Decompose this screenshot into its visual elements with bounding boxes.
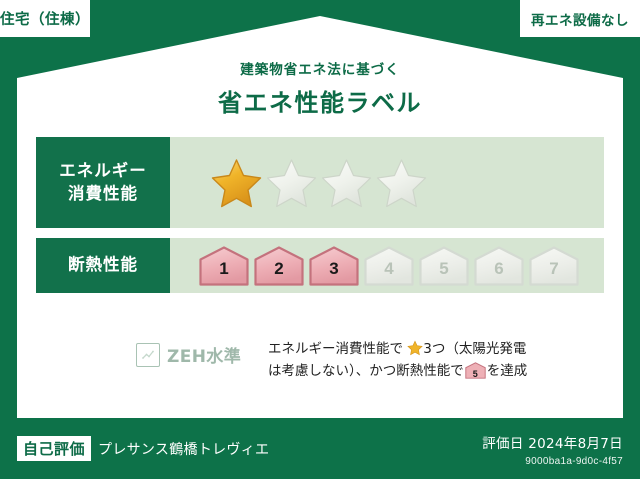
zeh-desc-text-1: エネルギー消費性能で — [268, 341, 403, 357]
zeh-mark-label: ZEH水準 — [167, 342, 241, 367]
zeh-desc-text-3: は考慮しない）、かつ断熱性能で — [268, 363, 464, 379]
evaluation-id: 9000ba1a-9d0c-4f57 — [482, 456, 623, 467]
star-icon-empty — [320, 157, 373, 209]
renewable-energy-tag: 再エネ設備なし — [520, 0, 640, 37]
energy-label-line-2: 消費性能 — [68, 183, 138, 205]
house-icon-empty: 6 — [473, 245, 525, 287]
insulation-grade-scale: 1234567 — [198, 245, 580, 287]
house-icon-achieved: 2 — [253, 245, 305, 287]
house-icon-empty: 7 — [528, 245, 580, 287]
insulation-grade-number: 7 — [528, 259, 580, 279]
property-name: プレサンス鶴橋トレヴィエ — [98, 439, 269, 459]
star-icon-empty — [265, 157, 318, 209]
star-icon-filled — [210, 157, 263, 209]
insulation-performance-row: 断熱性能 1234567 — [36, 238, 604, 293]
energy-performance-label: 住宅（住棟） 再エネ設備なし 建築物省エネ法に基づく 省エネ性能ラベル エネルギ… — [0, 0, 640, 479]
building-type-tag: 住宅（住棟） — [0, 0, 90, 37]
energy-performance-label-box: エネルギー 消費性能 — [36, 137, 170, 228]
house-icon-achieved: 1 — [198, 245, 250, 287]
zeh-desc-house-grade: 5 — [465, 367, 486, 382]
insulation-grade-number: 4 — [363, 259, 415, 279]
house-icon-empty: 5 — [418, 245, 470, 287]
star-icon — [407, 340, 423, 356]
label-title: 建築物省エネ法に基づく 省エネ性能ラベル — [0, 58, 640, 118]
energy-performance-row: エネルギー 消費性能 — [36, 137, 604, 228]
zeh-mark: ZEH水準 — [36, 336, 254, 367]
zeh-description-line-1: エネルギー消費性能で 3つ（太陽光発電 — [268, 338, 604, 360]
self-evaluation: 自己評価 プレサンス鶴橋トレヴィエ — [17, 436, 269, 461]
energy-performance-value — [170, 137, 604, 228]
insulation-grade-number: 5 — [418, 259, 470, 279]
star-rating — [210, 157, 428, 209]
label-footer: 自己評価 プレサンス鶴橋トレヴィエ 評価日 2024年8月7日 9000ba1a… — [0, 424, 640, 479]
self-evaluation-badge: 自己評価 — [17, 436, 91, 461]
zeh-desc-text-2: 3つ（太陽光発電 — [423, 341, 526, 357]
label-title-sub: 建築物省エネ法に基づく — [0, 58, 640, 78]
insulation-performance-label-box: 断熱性能 — [36, 238, 170, 293]
zeh-checkbox-icon — [136, 343, 160, 367]
house-icon-empty: 4 — [363, 245, 415, 287]
insulation-performance-value: 1234567 — [170, 238, 604, 293]
evaluation-date-label: 評価日 — [482, 436, 523, 452]
zeh-description-line-2: は考慮しない）、かつ断熱性能で 5 を達成 — [268, 360, 604, 382]
star-icon-empty — [375, 157, 428, 209]
zeh-desc-text-4: を達成 — [487, 363, 528, 379]
zeh-description: エネルギー消費性能で 3つ（太陽光発電 は考慮しない）、かつ断熱性能で 5 を達… — [254, 336, 604, 383]
insulation-label: 断熱性能 — [68, 254, 138, 276]
evaluation-date: 評価日 2024年8月7日 — [482, 432, 623, 452]
evaluation-date-value: 2024年8月7日 — [528, 436, 623, 452]
house-icon: 5 — [465, 362, 486, 379]
insulation-grade-number: 6 — [473, 259, 525, 279]
house-icon-achieved: 3 — [308, 245, 360, 287]
insulation-grade-number: 2 — [253, 259, 305, 279]
insulation-grade-number: 3 — [308, 259, 360, 279]
insulation-grade-number: 1 — [198, 259, 250, 279]
zeh-standard-note: ZEH水準 エネルギー消費性能で 3つ（太陽光発電 は考慮しない）、かつ断熱性能… — [36, 336, 604, 383]
energy-label-line-1: エネルギー — [59, 160, 147, 182]
evaluation-meta: 評価日 2024年8月7日 9000ba1a-9d0c-4f57 — [482, 432, 623, 467]
label-title-main: 省エネ性能ラベル — [0, 83, 640, 118]
